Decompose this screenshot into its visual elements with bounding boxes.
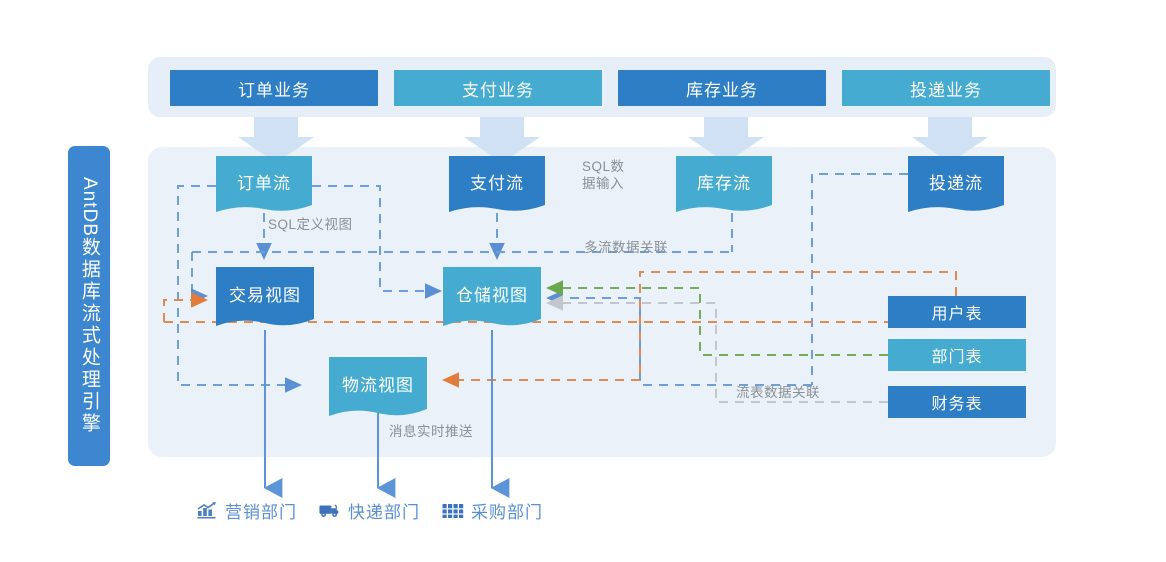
stream-label: 投递流 [929,169,983,194]
top-box-order-business[interactable]: 订单业务 [170,70,378,106]
legend-item-marketing[interactable]: 营销部门 [196,498,297,523]
annotation-stream-table-join: 流表数据关联 [736,384,820,401]
table-label: 用户表 [931,300,982,324]
annotation-sql-define-view: SQL定义视图 [268,216,353,233]
table-label: 部门表 [931,343,982,367]
table-box-finance[interactable]: 财务表 [888,386,1026,418]
view-label: 交易视图 [229,281,301,306]
top-box-inventory-business[interactable]: 库存业务 [618,70,826,106]
table-box-department[interactable]: 部门表 [888,339,1026,371]
legend-item-express[interactable]: 快递部门 [319,498,420,523]
top-box-label: 支付业务 [462,76,534,101]
truck-icon [319,502,341,520]
table-box-user[interactable]: 用户表 [888,296,1026,328]
stream-label: 支付流 [470,169,524,194]
grid-icon [442,502,464,520]
stream-node-payment[interactable]: 支付流 [449,156,545,206]
bar-chart-icon [196,502,218,520]
diagram-canvas: AntDB数据库流式处理引擎 订单业务 支付业务 库存业务 投递业务 订单流 支… [0,0,1166,562]
table-label: 财务表 [931,390,982,414]
top-box-label: 投递业务 [910,76,982,101]
sidebar-chinese-label: 数据库流式处理引擎 [79,237,100,435]
view-node-warehouse[interactable]: 仓储视图 [443,267,541,320]
view-node-logistics[interactable]: 物流视图 [329,357,427,410]
stream-label: 订单流 [237,169,291,194]
view-label: 物流视图 [342,371,414,396]
stream-label: 库存流 [697,169,751,194]
annotation-message-push: 消息实时推送 [389,423,473,440]
sidebar-antdb-engine: AntDB数据库流式处理引擎 [68,146,110,466]
legend-label: 营销部门 [225,498,297,523]
legend-label: 快递部门 [348,498,420,523]
top-box-label: 库存业务 [686,76,758,101]
view-node-transaction[interactable]: 交易视图 [216,267,314,320]
top-box-label: 订单业务 [238,76,310,101]
legend-item-procurement[interactable]: 采购部门 [442,498,543,523]
legend-label: 采购部门 [471,498,543,523]
legend: 营销部门 快递部门 [196,498,565,523]
stream-node-order[interactable]: 订单流 [216,156,312,206]
top-box-delivery-business[interactable]: 投递业务 [842,70,1050,106]
top-box-payment-business[interactable]: 支付业务 [394,70,602,106]
annotation-multi-stream-join: 多流数据关联 [584,239,668,256]
stream-node-inventory[interactable]: 库存流 [676,156,772,206]
view-label: 仓储视图 [456,281,528,306]
annotation-sql-data-input: SQL数 据输入 [582,158,625,192]
label-layer: AntDB数据库流式处理引擎 订单业务 支付业务 库存业务 投递业务 订单流 支… [0,0,1166,562]
stream-node-delivery[interactable]: 投递流 [908,156,1004,206]
sidebar-latin-label: AntDB [79,177,100,237]
